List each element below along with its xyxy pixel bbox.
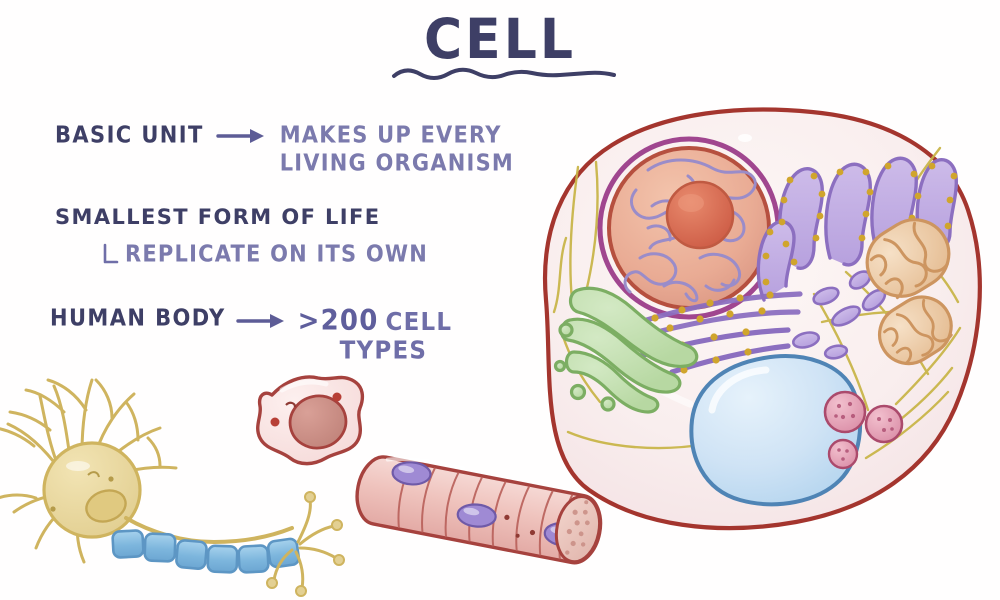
animal-cell bbox=[545, 110, 980, 529]
cell-illustration bbox=[0, 0, 1000, 600]
infographic-canvas: CELL BASIC UNIT MAKES UP EVERY LIVING OR… bbox=[0, 0, 1000, 600]
nucleus-icon bbox=[600, 139, 778, 317]
blood-cell-icon bbox=[258, 377, 363, 464]
nucleolus-icon bbox=[667, 182, 733, 248]
